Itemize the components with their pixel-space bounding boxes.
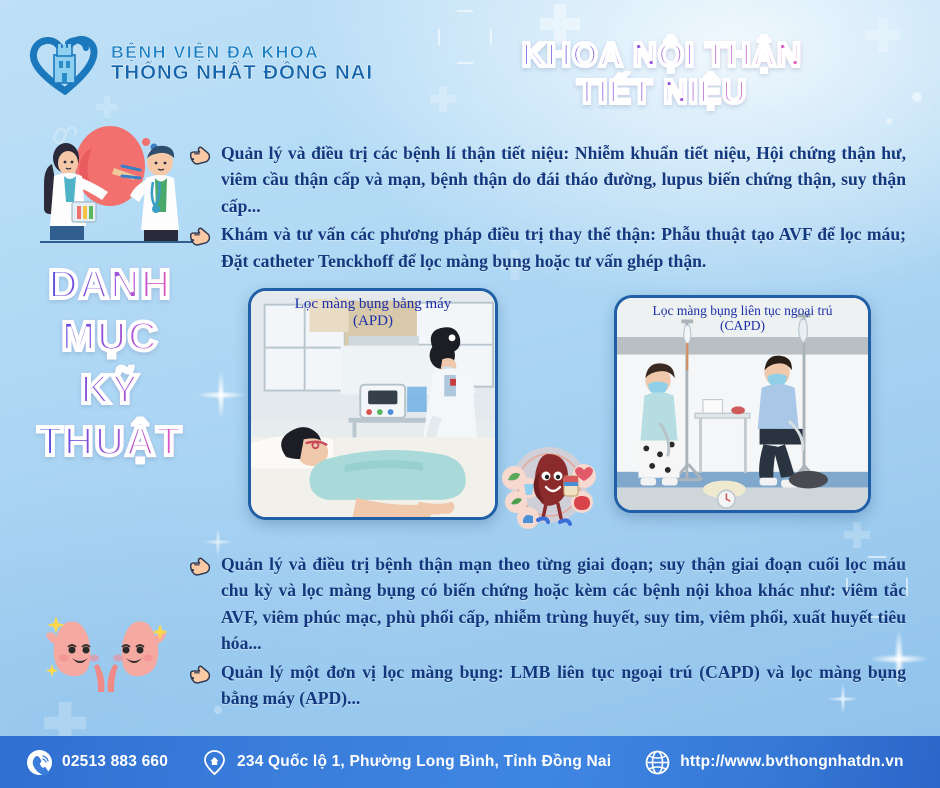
bullet-item: Quản lý và điều trị các bệnh lí thận tiế… — [188, 140, 906, 219]
bullet-text: Khám và tư vấn các phương pháp điều trị … — [221, 221, 906, 274]
bullet-text: Quản lý và điều trị các bệnh lí thận tiế… — [221, 140, 906, 219]
location-pin-icon — [201, 749, 228, 776]
photo-caption-line1: Lọc màng bụng bằng máy — [251, 296, 495, 313]
footer-address[interactable]: 234 Quốc lộ 1, Phường Long Bình, Tỉnh Đồ… — [201, 749, 611, 776]
headline-line1: DANH — [10, 258, 210, 310]
heart-castle-logo-icon — [28, 33, 102, 95]
hospital-name-line2: THỐNG NHẤT ĐỒNG NAI — [111, 62, 373, 84]
footer-phone[interactable]: 02513 883 660 — [26, 749, 168, 776]
headline-line3: KỸ — [10, 363, 210, 415]
pointing-hand-icon — [188, 225, 213, 250]
photo-card-capd: Lọc màng bụng liên tục ngoại trú (CAPD) — [614, 295, 871, 513]
kidney-pair-illustration — [36, 602, 176, 708]
decorative-dot — [886, 118, 892, 124]
photo-caption-line1: Lọc màng bụng liên tục ngoại trú — [617, 303, 868, 318]
photo-card-apd: Lọc màng bụng bằng máy (APD) — [248, 288, 498, 520]
infographic-poster: BỆNH VIỆN ĐA KHOA THỐNG NHẤT ĐỒNG NAI KH… — [0, 0, 940, 788]
phone-icon — [26, 749, 53, 776]
footer-website-text: http://www.bvthongnhatdn.vn — [680, 753, 904, 771]
pointing-hand-icon — [188, 144, 213, 169]
decorative-cross-icon — [96, 96, 118, 118]
bullet-item: Khám và tư vấn các phương pháp điều trị … — [188, 221, 906, 274]
department-title-line2: TIẾT NIỆU — [452, 73, 872, 110]
department-title-line1: KHOA NỘI THẬN — [452, 36, 872, 73]
footer-address-text: 234 Quốc lộ 1, Phường Long Bình, Tỉnh Đồ… — [237, 753, 611, 771]
bullet-list-top: Quản lý và điều trị các bệnh lí thận tiế… — [188, 140, 906, 276]
bullet-text: Quản lý và điều trị bệnh thận mạn theo t… — [221, 551, 906, 657]
footer-phone-text: 02513 883 660 — [62, 753, 168, 771]
section-headline: DANH MỤC KỸ THUẬT — [10, 258, 210, 468]
kidney-mascot-illustration — [496, 432, 602, 538]
headline-line2: MỤC — [10, 310, 210, 362]
pointing-hand-icon — [188, 555, 213, 580]
photo-caption-line2: (CAPD) — [617, 318, 868, 333]
doctors-kidney-illustration — [22, 118, 202, 248]
contact-footer: 02513 883 660 234 Quốc lộ 1, Phường Long… — [0, 736, 940, 788]
photo-caption-apd: Lọc màng bụng bằng máy (APD) — [251, 296, 495, 330]
bullet-list-bottom: Quản lý và điều trị bệnh thận mạn theo t… — [188, 551, 906, 713]
hospital-logo: BỆNH VIỆN ĐA KHOA THỐNG NHẤT ĐỒNG NAI — [28, 33, 373, 95]
decorative-dot — [912, 92, 922, 102]
globe-icon — [644, 749, 671, 776]
photo-caption-line2: (APD) — [251, 313, 495, 330]
bullet-item: Quản lý một đơn vị lọc màng bụng: LMB li… — [188, 659, 906, 712]
headline-line4: THUẬT — [10, 415, 210, 467]
footer-website[interactable]: http://www.bvthongnhatdn.vn — [644, 749, 904, 776]
bullet-text: Quản lý một đơn vị lọc màng bụng: LMB li… — [221, 659, 906, 712]
bullet-item: Quản lý và điều trị bệnh thận mạn theo t… — [188, 551, 906, 657]
department-title: KHOA NỘI THẬN TIẾT NIỆU — [452, 36, 872, 111]
pointing-hand-icon — [188, 663, 213, 688]
photo-caption-capd: Lọc màng bụng liên tục ngoại trú (CAPD) — [617, 303, 868, 333]
hospital-name-line1: BỆNH VIỆN ĐA KHOA — [111, 43, 373, 62]
decorative-cross-icon — [844, 522, 870, 548]
